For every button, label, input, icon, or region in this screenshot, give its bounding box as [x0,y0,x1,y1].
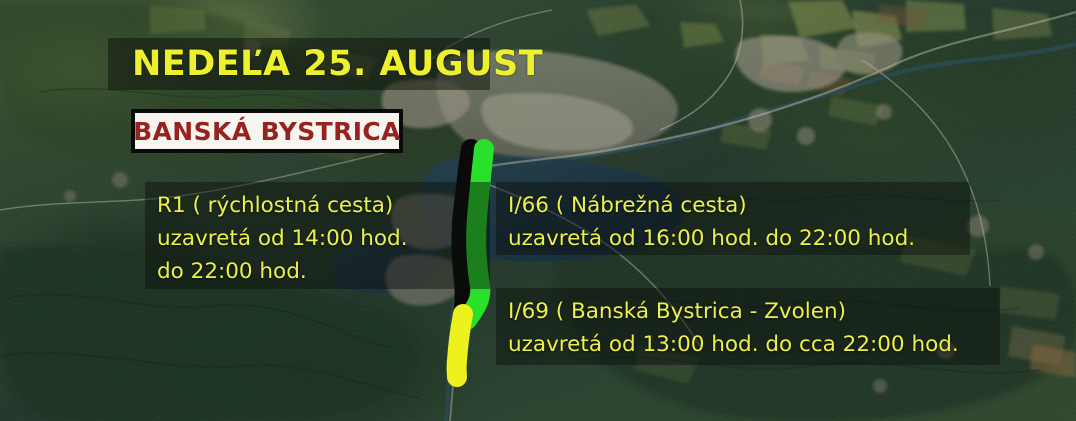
route-i69-yellow-line [457,314,463,377]
closure-info-r1: R1 ( rýchlostná cesta) uzavretá od 14:00… [145,182,490,289]
closure-i69-line-2: uzavretá od 13:00 hod. do cca 22:00 hod. [508,328,988,361]
closure-r1-line-2: uzavretá od 14:00 hod. [157,222,478,255]
city-name: BANSKÁ BYSTRICA [133,117,401,146]
closure-r1-line-1: R1 ( rýchlostná cesta) [157,189,478,222]
closure-r1-line-3: do 22:00 hod. [157,255,478,288]
traffic-closure-graphic: NEDEĽA 25. AUGUST BANSKÁ BYSTRICA R1 ( r… [0,0,1076,421]
closure-info-i69: I/69 ( Banská Bystrica - Zvolen) uzavret… [496,288,1000,365]
closure-i66-line-2: uzavretá od 16:00 hod. do 22:00 hod. [508,222,958,255]
closure-i66-line-1: I/66 ( Nábrežná cesta) [508,189,958,222]
closure-info-i66: I/66 ( Nábrežná cesta) uzavretá od 16:00… [496,182,970,255]
page-title: NEDEĽA 25. AUGUST [132,44,543,84]
closure-i69-line-1: I/69 ( Banská Bystrica - Zvolen) [508,295,988,328]
city-label-box: BANSKÁ BYSTRICA [131,109,403,153]
